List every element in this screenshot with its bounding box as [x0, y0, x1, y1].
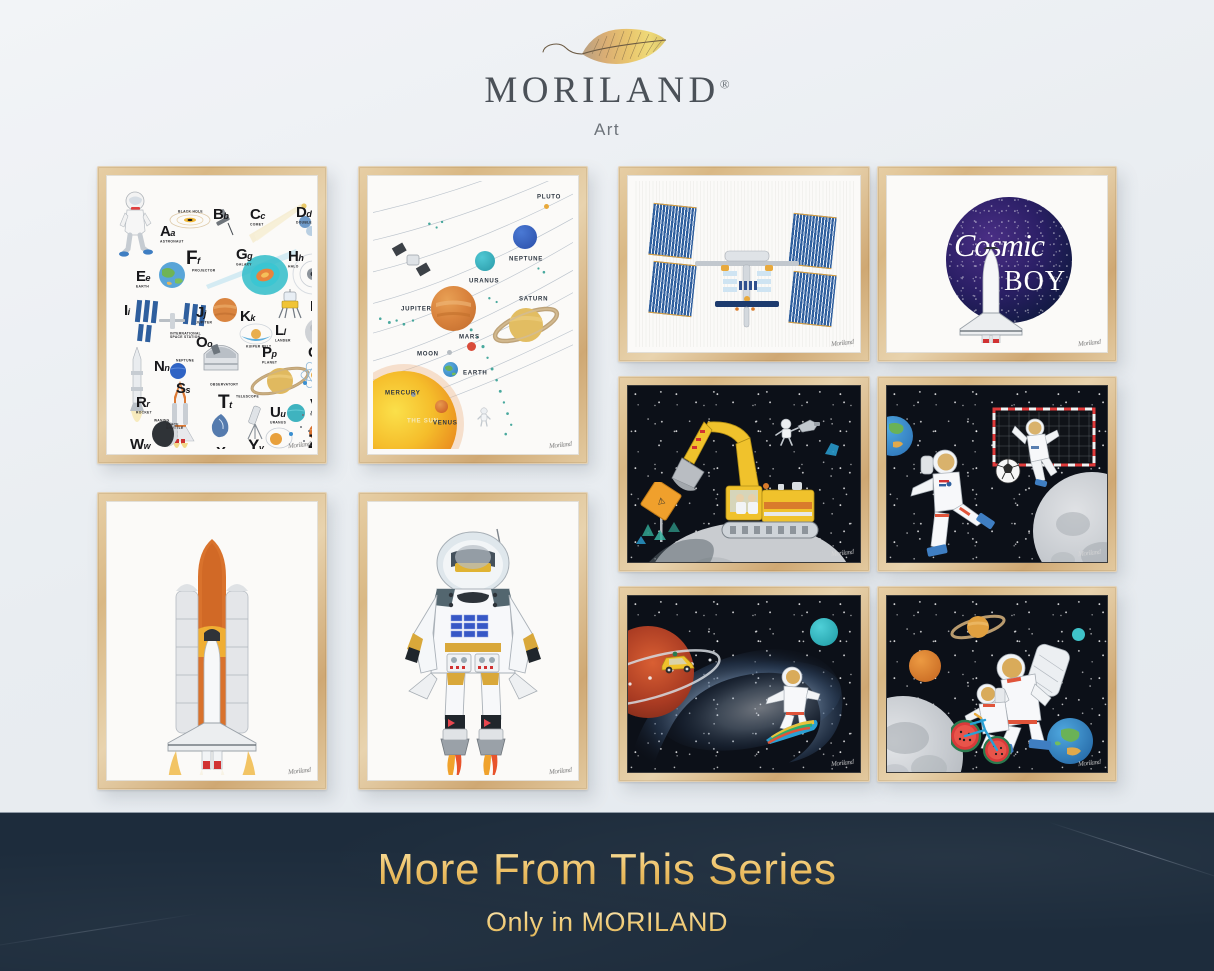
alpha-letter-X: XxX-RAY [216, 445, 231, 449]
label-earth: EARTH [463, 369, 488, 376]
iss-core-module [691, 239, 803, 329]
illustration-yellow-car [658, 650, 700, 676]
illustration-crystal-floating [822, 440, 848, 458]
poster-mat: Moriland [886, 595, 1108, 773]
illustration-teal-moon [810, 618, 838, 646]
banner-scratch-decor [1048, 822, 1214, 882]
alpha-letter-C: CcCOMET [250, 207, 265, 227]
illustration-shuttle [958, 247, 1024, 343]
alpha-caption-N: NEPTUNE [176, 359, 190, 363]
artwork-astronaut-suit [373, 507, 573, 775]
poster-mat: Moriland [627, 175, 861, 353]
banner-title: More From This Series [377, 846, 836, 894]
feather-icon [0, 22, 1214, 72]
illustration-astronaut-rocket-boots [393, 523, 553, 775]
illustration-uranus [475, 251, 495, 271]
artwork-galaxy-surfer [628, 596, 860, 772]
artwork-astronaut-bicycle [887, 596, 1107, 772]
alpha-letter-B: Bb [213, 207, 229, 223]
label-pluto: PLUTO [537, 193, 561, 200]
illustration-crystals [634, 506, 698, 546]
alpha-caption-O: OBSERVATORY [210, 383, 232, 387]
artwork-iss [633, 181, 855, 347]
illustration-orange-planet [909, 650, 941, 682]
label-moon: MOON [417, 350, 439, 357]
illustration-saturn [491, 297, 561, 353]
poster-mat: Moriland [886, 385, 1108, 563]
poster-frame-galaxy-surfer[interactable]: Moriland [618, 586, 870, 782]
alpha-letter-A: AaASTRONAUT [160, 224, 179, 244]
alpha-letter-F: Ff [186, 249, 200, 268]
alpha-letter-T: Tt [218, 393, 232, 412]
illustration-astronaut-drill [774, 412, 822, 446]
artwork-space-alphabet: AaASTRONAUT Bb BLACK HOLE CcCOMET DdDOUB… [112, 181, 312, 449]
alpha-letter-R: RrROCKET [136, 395, 150, 415]
alpha-caption-S: SPACE SHUTTLE [166, 423, 188, 429]
poster-frame-moon-excavator[interactable]: ⚠ [618, 376, 870, 572]
poster-mat: ⚠ [627, 385, 861, 563]
poster-frame-solar-system[interactable]: THE SUN MERCURY VENUS EARTH MOON MARS JU… [358, 166, 588, 464]
alpha-letter-L: LlLANDER [275, 323, 287, 343]
alphabet-letter-grid: AaASTRONAUT Bb BLACK HOLE CcCOMET DdDOUB… [118, 187, 307, 437]
alpha-letter-P: PpPLANET [262, 345, 277, 365]
alpha-letter-U: UuURANUS [270, 405, 286, 425]
illustration-venus [435, 400, 448, 413]
illustration-earth [443, 362, 458, 377]
alpha-letter-W: Ww [130, 437, 151, 449]
illustration-astronaut-kicker [905, 446, 1005, 562]
alpha-letter-V: VvVENUS [310, 397, 312, 417]
label-mercury: MERCURY [385, 389, 421, 396]
alpha-caption-T: TELESCOPE [236, 395, 254, 399]
illustration-jupiter [431, 286, 476, 331]
poster-mat: Cosmic BOY Moriland [886, 175, 1108, 353]
illustration-astronaut-child-bicycle [951, 680, 1041, 766]
illustration-astronaut-surfer [750, 664, 836, 744]
brand-subtitle: Art [0, 120, 1214, 140]
alpha-caption-B: BLACK HOLE [178, 210, 198, 214]
alpha-caption-F: PROJECTOR [192, 269, 210, 273]
illustration-pluto [544, 204, 549, 209]
artwork-space-shuttle-launch [112, 507, 312, 775]
poster-mat: THE SUN MERCURY VENUS EARTH MOON MARS JU… [367, 175, 579, 455]
alpha-letter-Q: Qq [308, 345, 312, 361]
illustration-neptune [513, 225, 537, 249]
alpha-letter-E: EeEARTH [136, 269, 151, 289]
poster-mat: AaASTRONAUT Bb BLACK HOLE CcCOMET DdDOUB… [106, 175, 318, 455]
alpha-letter-G: GgGALAXY [236, 247, 253, 267]
illustration-floating-astronaut [477, 407, 491, 427]
alpha-caption-W: WANING [154, 419, 166, 423]
poster-frame-space-alphabet[interactable]: AaASTRONAUT Bb BLACK HOLE CcCOMET DdDOUB… [97, 166, 327, 464]
banner-scratch-decor [0, 913, 199, 950]
label-uranus: URANUS [469, 277, 499, 284]
alpha-letter-N: Nn [154, 359, 170, 375]
artwork-moon-excavator: ⚠ [628, 386, 860, 562]
poster-mat: Moriland [367, 501, 579, 781]
label-jupiter: JUPITER [401, 305, 432, 312]
brand-name-text: MORILAND [484, 70, 719, 111]
alpha-letter-K: Kk [240, 309, 255, 325]
alpha-letter-M: Mm [310, 299, 312, 315]
poster-frame-international-space-station[interactable]: Moriland [618, 166, 870, 362]
series-banner: More From This Series Only in MORILAND [0, 812, 1214, 971]
iss-solar-panel [648, 203, 696, 259]
poster-gallery-page: MORILAND® Art [0, 0, 1214, 971]
alpha-letter-Y: YyYEAR [248, 437, 264, 449]
label-venus: VENUS [433, 419, 458, 426]
poster-mat: Moriland [627, 595, 861, 773]
artwork-solar-system: THE SUN MERCURY VENUS EARTH MOON MARS JU… [373, 181, 573, 449]
alpha-letter-J: JjJUPITER [196, 305, 209, 325]
illustration-satellite [391, 241, 435, 283]
alpha-letter-S: Ss [176, 381, 191, 397]
brand-header: MORILAND® Art [0, 22, 1214, 140]
poster-frame-astronaut-suit[interactable]: Moriland [358, 492, 588, 790]
brand-name: MORILAND® [484, 72, 729, 111]
poster-mat: Moriland [106, 501, 318, 781]
poster-frame-cosmic-boy[interactable]: Cosmic BOY Moriland [877, 166, 1117, 362]
illustration-shuttle-launch [146, 537, 278, 775]
label-saturn: SATURN [519, 295, 548, 302]
alpha-letter-O: Oo [196, 335, 213, 351]
alpha-letter-H: HhHALO [288, 249, 304, 269]
artwork-astronaut-soccer [887, 386, 1107, 562]
poster-frame-astronaut-bicycle[interactable]: Moriland [877, 586, 1117, 782]
illustration-moon [447, 350, 452, 355]
poster-frame-astronaut-soccer[interactable]: Moriland [877, 376, 1117, 572]
artwork-cosmic-boy: Cosmic BOY [892, 181, 1102, 347]
alpha-letter-D: DdDOUBLE STAR [296, 205, 312, 225]
registered-mark: ® [720, 77, 730, 92]
illustration-mars [467, 342, 476, 351]
alpha-letter-I: Ii [124, 303, 130, 319]
iss-solar-panel [648, 261, 696, 317]
label-neptune: NEPTUNE [509, 255, 543, 262]
label-mars: MARS [459, 333, 480, 340]
banner-subtitle: Only in MORILAND [486, 907, 728, 938]
poster-frame-space-shuttle-launch[interactable]: Moriland [97, 492, 327, 790]
